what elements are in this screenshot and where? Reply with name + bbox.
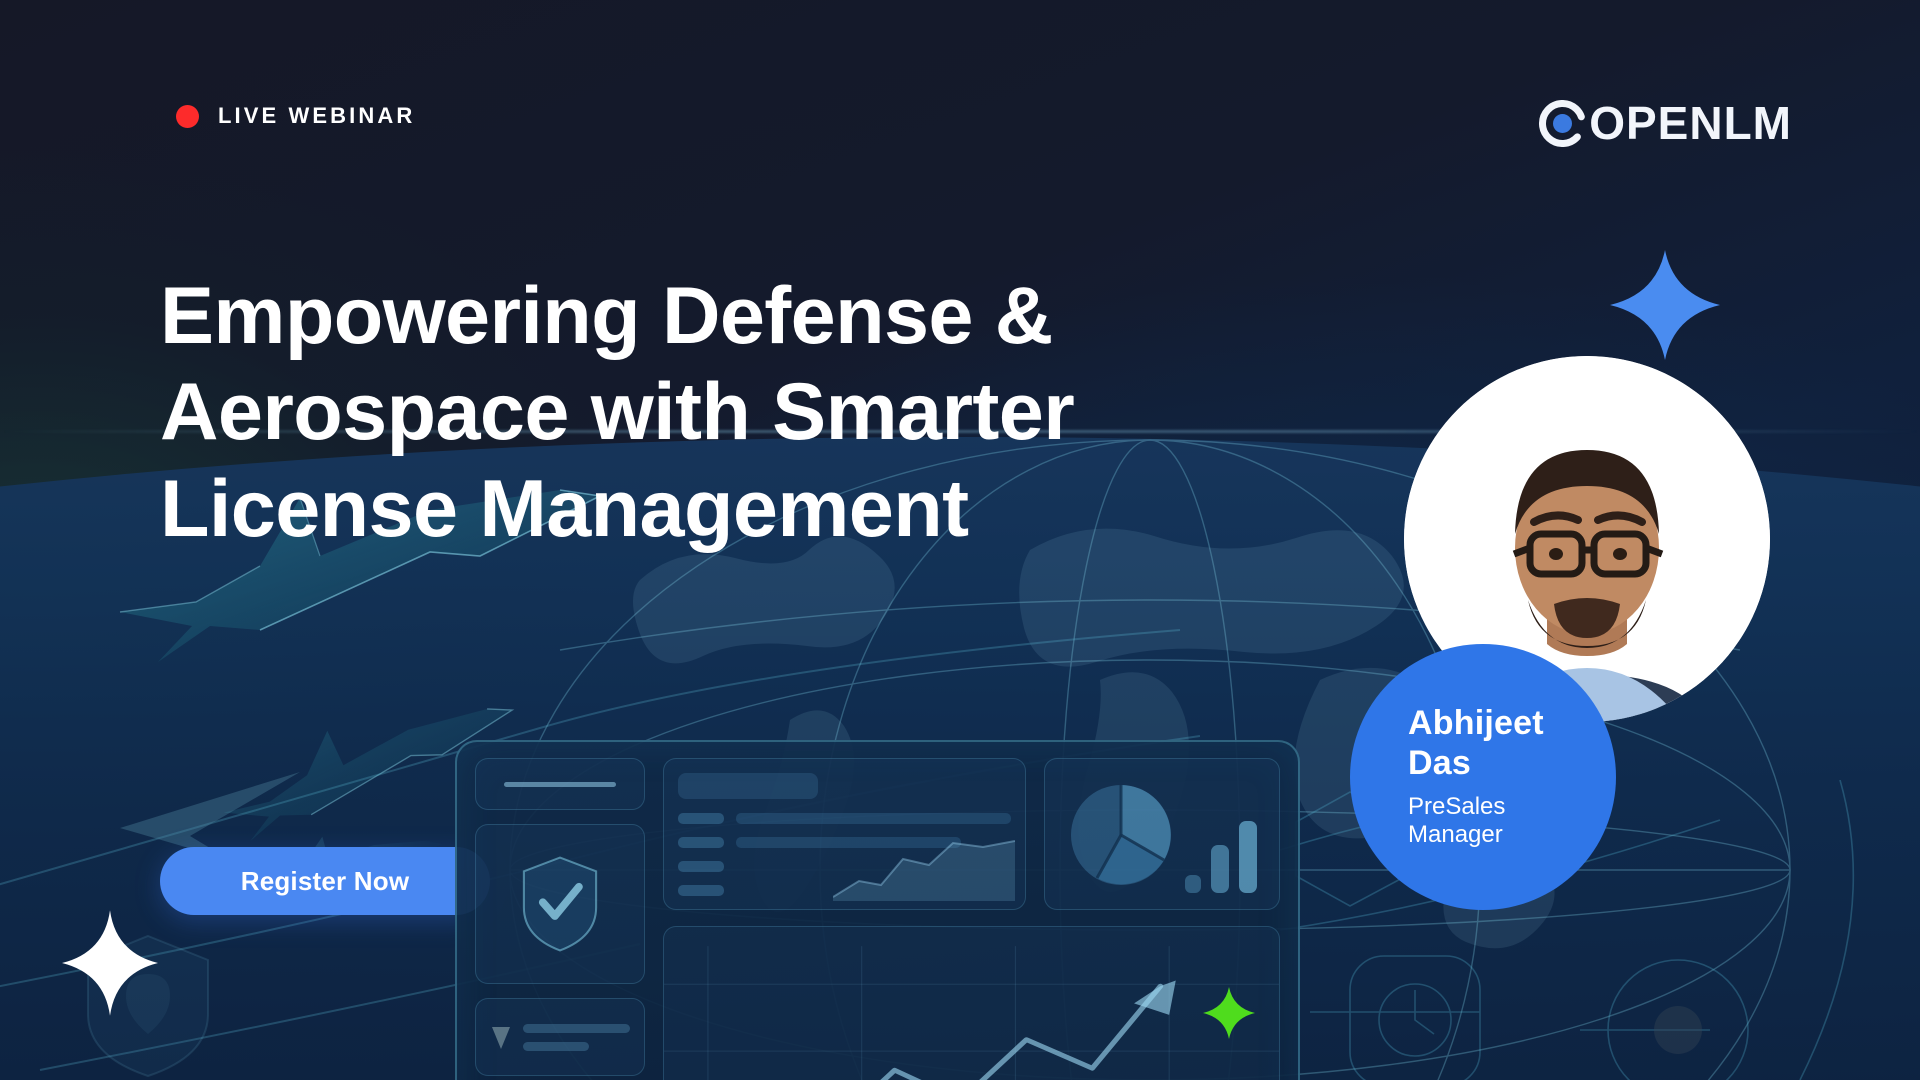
openlm-logo[interactable]: OPENLM	[1539, 100, 1792, 147]
headline-line-1: Empowering Defense &	[160, 268, 1250, 364]
speaker-role-line-2: Manager	[1408, 821, 1616, 849]
dashboard-illustration	[455, 740, 1300, 1080]
speaker-last-name: Das	[1408, 744, 1616, 783]
list-item	[475, 998, 645, 1076]
search-bar-placeholder	[475, 758, 645, 810]
pie-chart	[1067, 781, 1175, 889]
sparkle-icon	[1610, 250, 1720, 360]
sparkle-icon	[1203, 985, 1255, 1041]
tag-icon	[490, 1024, 512, 1050]
register-now-button[interactable]: Register Now	[160, 847, 490, 915]
bar-chart	[1185, 811, 1259, 893]
page-title: Empowering Defense & Aerospace with Smar…	[160, 268, 1250, 557]
headline-line-2: Aerospace with Smarter	[160, 364, 1250, 460]
shield-check-icon	[475, 824, 645, 984]
live-dot-icon	[176, 105, 199, 128]
dashboard-sidebar	[475, 758, 645, 1080]
webinar-banner: LIVE WEBINAR OPENLM Empowering Defense &…	[0, 0, 1920, 1080]
dashboard-main	[663, 758, 1280, 1080]
sparkle-icon	[62, 910, 158, 1016]
area-chart	[833, 831, 1015, 901]
live-webinar-label: LIVE WEBINAR	[218, 103, 415, 129]
list-and-area-chart-panel	[663, 758, 1026, 910]
openlm-o-mark-icon	[1539, 100, 1586, 147]
speaker-first-name: Abhijeet	[1408, 704, 1616, 743]
openlm-wordmark: OPENLM	[1589, 100, 1792, 147]
pie-and-bar-chart-panel	[1044, 758, 1280, 910]
speaker-role-line-1: PreSales	[1408, 793, 1616, 821]
speaker-badge: Abhijeet Das PreSales Manager	[1350, 644, 1616, 910]
live-webinar-badge: LIVE WEBINAR	[176, 103, 415, 129]
headline-line-3: License Management	[160, 461, 1250, 557]
trending-up-line-chart	[663, 926, 1280, 1080]
